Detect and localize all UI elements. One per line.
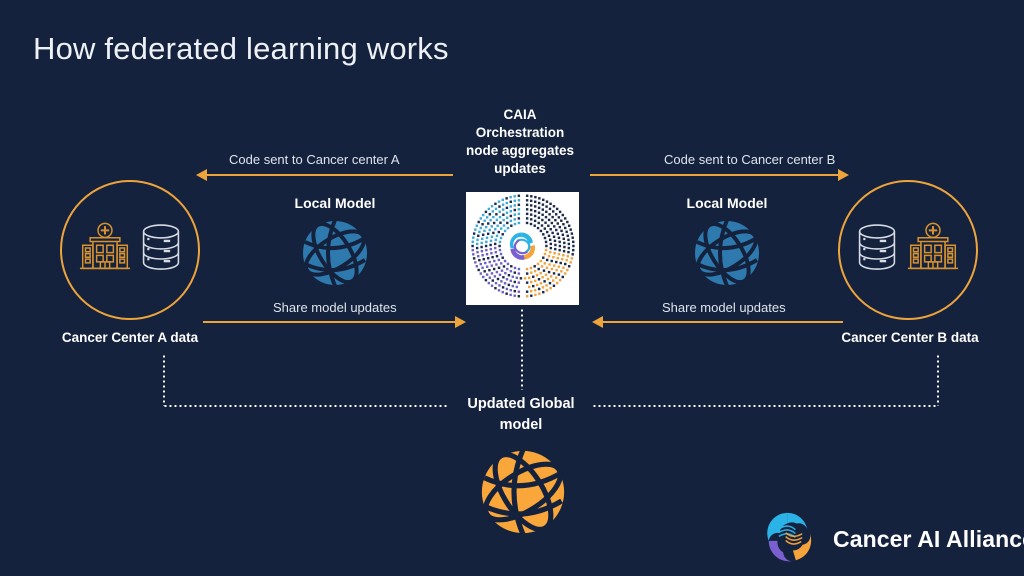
code-to-center-b-arrow-line [590,174,838,176]
dotted-connector-center-vertical [521,308,523,390]
local-model-label-b: Local Model [657,195,797,211]
dotted-connector-right-vertical [937,354,939,406]
caia-orchestration-node [466,192,579,305]
cancer-center-b-node [838,180,978,320]
code-to-center-a-label: Code sent to Cancer center A [229,152,400,167]
code-to-center-b-arrow-head [838,169,849,181]
database-icon [139,222,183,279]
code-to-center-b-label: Code sent to Cancer center B [664,152,835,167]
brand-name: Cancer AI Alliance [833,526,1024,553]
share-updates-from-a-arrow-line [203,321,455,323]
page-title: How federated learning works [33,31,449,67]
code-to-center-a-arrow-line [206,174,453,176]
dotted-connector-left-horizontal [163,405,448,407]
caia-radial-logo-icon [469,192,577,305]
share-updates-from-b-arrow-head [592,316,603,328]
share-updates-from-b-label: Share model updates [662,300,786,315]
hospital-icon [905,222,961,279]
updated-global-model-label: Updated Global model [442,394,600,436]
cancer-center-a-node [60,180,200,320]
dotted-connector-right-horizontal [592,405,937,407]
share-updates-from-a-arrow-head [455,316,466,328]
code-to-center-a-arrow-head [196,169,207,181]
globe-icon [478,447,568,542]
cancer-ai-alliance-logo-icon [762,508,820,571]
cancer-center-b-caption: Cancer Center B data [810,330,1010,345]
share-updates-from-b-arrow-line [602,321,843,323]
database-icon [855,222,899,279]
hospital-icon [77,222,133,279]
local-model-label-a: Local Model [265,195,405,211]
cancer-center-a-caption: Cancer Center A data [30,330,230,345]
caia-orchestration-heading: CAIA Orchestration node aggregates updat… [440,106,600,178]
brand-lockup: Cancer AI Alliance [762,508,1024,571]
share-updates-from-a-label: Share model updates [273,300,397,315]
dotted-connector-left-vertical [163,354,165,406]
slide-canvas: How federated learning works CAIA Orches… [0,0,1024,576]
globe-icon [300,218,370,293]
globe-icon [692,218,762,293]
